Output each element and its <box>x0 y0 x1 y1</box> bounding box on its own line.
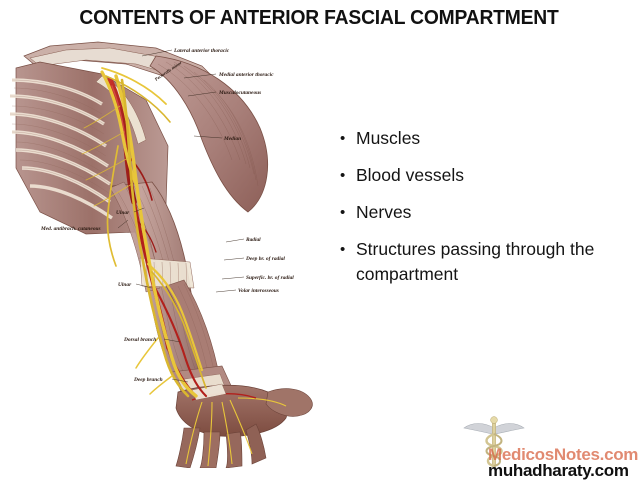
list-item-label: Nerves <box>356 200 636 225</box>
list-item-label: Muscles <box>356 126 636 151</box>
label-radial: Radial <box>245 237 261 243</box>
label-dorsal-branch: Dorsal branch <box>123 337 156 343</box>
label-med-antibrach-cutaneous: Med. antibrach. cutaneous <box>40 226 101 232</box>
bullet-marker: • <box>336 163 356 188</box>
label-median: Median <box>223 136 241 142</box>
list-item-label: Structures passing through the compartme… <box>356 237 636 287</box>
label-lateral-anterior-thoracic: Lateral anterior thoracic <box>173 48 230 54</box>
list-item: • Nerves <box>336 200 636 225</box>
list-item: • Structures passing through the compart… <box>336 237 636 287</box>
bullet-marker: • <box>336 126 356 151</box>
list-item: • Blood vessels <box>336 163 636 188</box>
page-title: CONTENTS OF ANTERIOR FASCIAL COMPARTMENT <box>19 6 619 30</box>
anatomy-illustration: Lateral anterior thoracic Medial anterio… <box>6 36 336 468</box>
watermark-brand-secondary: muhadharaty.com <box>488 461 629 481</box>
list-item: • Muscles <box>336 126 636 151</box>
label-deep-br-of-radial: Deep br. of radial <box>245 256 285 262</box>
list-item-label: Blood vessels <box>356 163 636 188</box>
label-volar-interosseous: Volar interosseous <box>238 288 279 294</box>
label-deep-branch: Deep branch <box>133 377 163 383</box>
label-musculocutaneous: Musculocutaneous <box>218 90 261 96</box>
label-ulnar-lower: Ulnar <box>118 282 132 288</box>
label-medial-anterior-thoracic: Medial anterior thoracic <box>218 72 274 78</box>
bullet-marker: • <box>336 200 356 225</box>
label-superfic-br-of-radial: Superfic. br. of radial <box>246 275 294 281</box>
bullet-marker: • <box>336 237 356 262</box>
label-ulnar-upper: Ulnar <box>116 210 130 216</box>
content-bullet-list: • Muscles • Blood vessels • Nerves • Str… <box>336 126 636 287</box>
slide-canvas: CONTENTS OF ANTERIOR FASCIAL COMPARTMENT <box>0 0 638 479</box>
watermark: MedicosNotes.com muhadharaty.com <box>446 414 638 478</box>
